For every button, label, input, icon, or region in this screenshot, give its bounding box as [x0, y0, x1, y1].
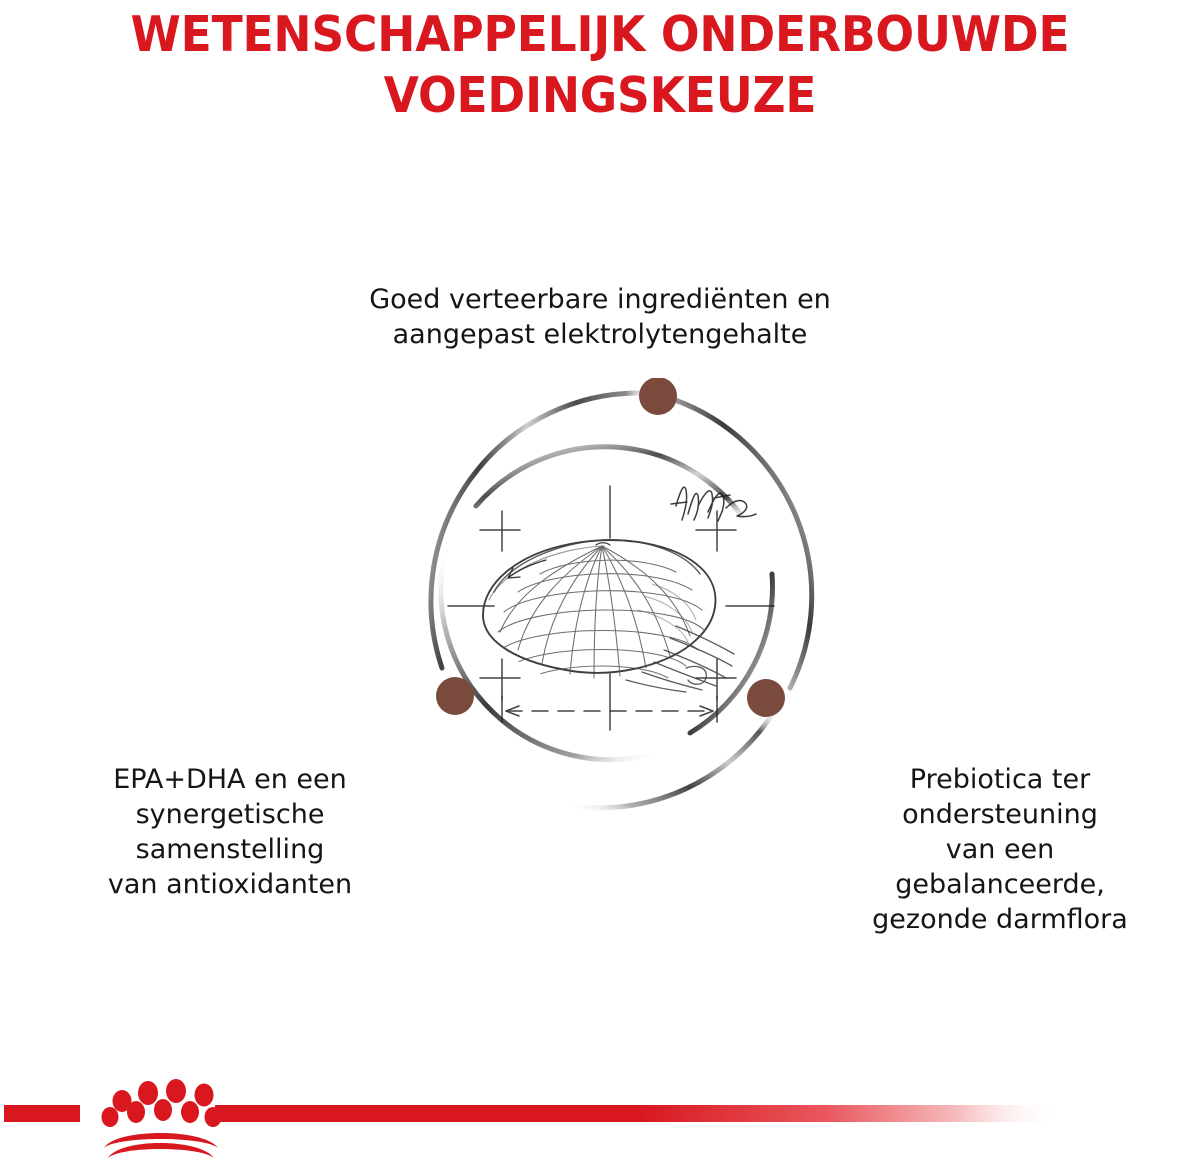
kibble-diagram: [390, 378, 830, 828]
dot-bottom-left: [436, 677, 474, 715]
dot-top: [639, 378, 677, 415]
kibble-sketch: [448, 486, 774, 730]
registration-marks: [448, 486, 774, 730]
kibble-outline: [483, 540, 715, 673]
feature-caption-prebiotics: Prebiotica ter ondersteuning van een geb…: [830, 762, 1170, 937]
inner-ring: [441, 447, 773, 760]
page-title: WETENSCHAPPELIJK ONDERBOUWDE VOEDINGSKEU…: [42, 4, 1158, 126]
shadow-hatching: [626, 626, 734, 692]
royal-canin-crown-paw-logo: [102, 1079, 222, 1158]
brand-bar-left: [4, 1105, 80, 1122]
dot-right: [747, 679, 785, 717]
outer-ring: [431, 393, 812, 808]
feature-caption-antioxidants: EPA+DHA en een synergetische samenstelli…: [30, 762, 430, 902]
brand-bar-right: [215, 1105, 1060, 1122]
brand-footer: [0, 1076, 1200, 1162]
feature-caption-digestibility: Goed verteerbare ingrediënten en aangepa…: [330, 282, 870, 352]
